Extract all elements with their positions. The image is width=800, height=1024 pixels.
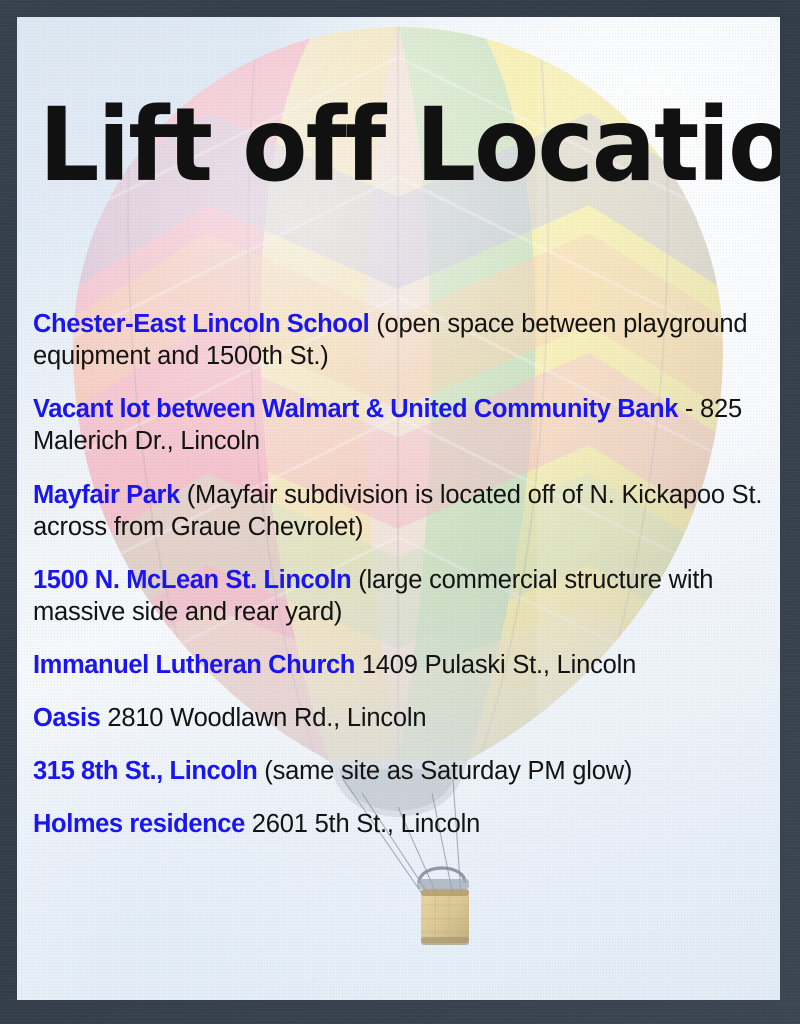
- location-detail: (same site as Saturday PM glow): [257, 757, 632, 785]
- location-name: 1500 N. McLean St. Lincoln: [33, 566, 351, 594]
- poster-frame: Lift off Locations Chester-East Lincoln …: [0, 0, 800, 1024]
- location-name: 315 8th St., Lincoln: [33, 757, 257, 785]
- list-item: Mayfair Park (Mayfair subdivision is loc…: [31, 479, 780, 543]
- location-detail: 1409 Pulaski St., Lincoln: [355, 651, 636, 679]
- list-item: Holmes residence 2601 5th St., Lincoln: [31, 808, 780, 840]
- location-name: Chester-East Lincoln School: [33, 310, 369, 338]
- list-item: 1500 N. McLean St. Lincoln (large commer…: [31, 564, 780, 628]
- location-name: Mayfair Park: [33, 481, 180, 509]
- location-name: Vacant lot between Walmart & United Comm…: [33, 395, 678, 423]
- list-item: 315 8th St., Lincoln (same site as Satur…: [31, 755, 780, 787]
- location-name: Holmes residence: [33, 810, 245, 838]
- poster-canvas: Lift off Locations Chester-East Lincoln …: [17, 17, 780, 1000]
- list-item: Chester-East Lincoln School (open space …: [31, 308, 780, 372]
- poster-text-layer: Lift off Locations Chester-East Lincoln …: [17, 17, 780, 1000]
- location-name: Immanuel Lutheran Church: [33, 651, 355, 679]
- list-item: Oasis 2810 Woodlawn Rd., Lincoln: [31, 702, 780, 734]
- page-title: Lift off Locations: [39, 95, 709, 197]
- list-item: Vacant lot between Walmart & United Comm…: [31, 393, 780, 457]
- location-detail: 2601 5th St., Lincoln: [245, 810, 480, 838]
- location-name: Oasis: [33, 704, 100, 732]
- locations-list: Chester-East Lincoln School (open space …: [31, 308, 780, 841]
- list-item: Immanuel Lutheran Church 1409 Pulaski St…: [31, 649, 780, 681]
- location-detail: 2810 Woodlawn Rd., Lincoln: [100, 704, 426, 732]
